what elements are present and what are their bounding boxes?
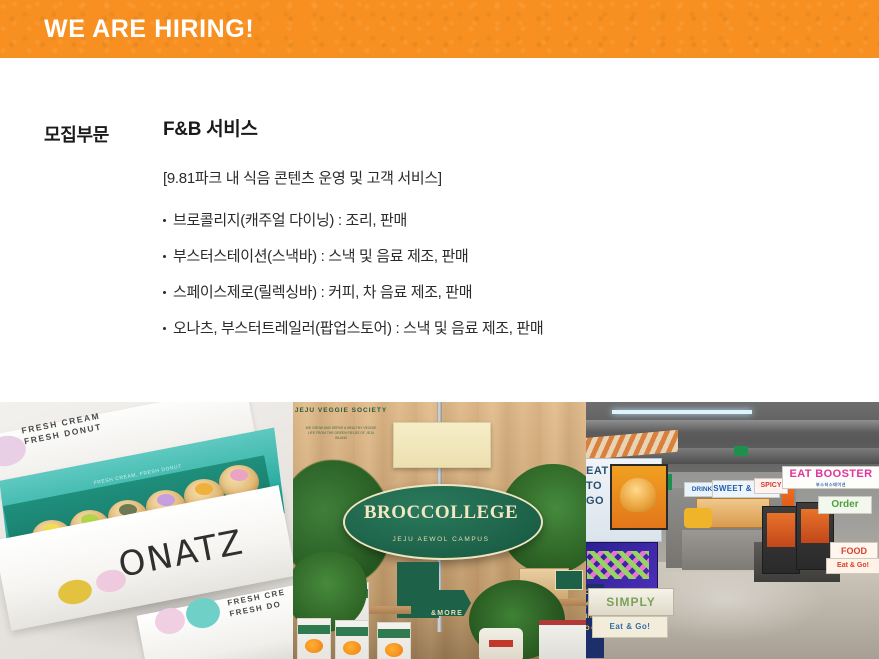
hiring-banner: WE ARE HIRING! [0,0,879,58]
produce-sack [479,628,523,659]
duty-text: 부스터스테이션(스낵바) : 스낵 및 음료 제조, 판매 [173,248,468,265]
list-item: 부스터스테이션(스낵바) : 스낵 및 음료 제조, 판매 [163,246,863,267]
order-sign: Order [818,496,872,514]
exit-sign-icon [734,446,748,456]
left-panel-text: EAT TO GO [586,464,612,509]
self-order-kiosk[interactable] [762,506,800,574]
eat-booster-subtitle: 부스터스테이션 [783,482,879,487]
eat-booster-title: EAT BOOSTER [789,468,872,480]
eat-and-go-sign: Eat & Go! [826,558,879,574]
recruitment-details: F&B 서비스 [9.81파크 내 식음 콘텐츠 운영 및 고객 서비스] 브로… [163,118,863,354]
duty-list: 브로콜리지(캐주얼 다이닝) : 조리, 판매 부스터스테이션(스낵바) : 스… [163,210,863,339]
product-box [539,620,586,659]
role-title: F&B 서비스 [163,118,863,142]
jeju-veggie-society-plaque [393,422,491,468]
role-subtitle: [9.81파크 내 식음 콘텐츠 운영 및 고객 서비스] [163,168,863,189]
ceiling-light [612,410,752,414]
broccollege-sign-title: BROCCOLLEGE [343,502,539,524]
stall-logo [684,508,712,528]
ceiling-duct [586,420,879,432]
list-item: 오나츠, 부스터트레일러(팝업스토어) : 스낵 및 음료 제조, 판매 [163,318,863,339]
duty-text: 오나츠, 부스터트레일러(팝업스토어) : 스낵 및 음료 제조, 판매 [173,320,543,337]
burger-poster [610,464,668,530]
canned-product [297,618,331,659]
eat-and-go-sign: Eat & Go! [592,616,668,638]
canned-product [335,620,369,659]
canned-product [377,622,411,659]
photo-broccollege-sign: JEJU VEGGIE SOCIETY WE GROW AND SERVE A … [293,402,586,659]
neon-blue-panel [586,542,658,590]
photo-food-court-interior: EAT TO GO TO GO! QUICK BITES TO GO! SIMP… [586,402,879,659]
plaque-title: JEJU VEGGIE SOCIETY [293,407,389,414]
field-label-recruitment-area: 모집부문 [44,121,109,147]
bullet-icon [163,291,166,294]
bullet-icon [163,327,166,330]
plaque-subtext: WE GROW AND SERVE A HEALTHY VEGGIE LIFE … [303,426,379,441]
photo-strip: FRESH CREAM FRESH DONUT FRESH CREAM, FRE… [0,402,879,659]
simply-sign: SIMPLY [588,588,674,616]
page-title: WE ARE HIRING! [44,14,254,44]
list-item: 스페이스제로(릴렉싱바) : 커피, 차 음료 제조, 판매 [163,282,863,303]
small-green-sign [555,570,583,590]
recruitment-content: 모집부문 F&B 서비스 [9.81파크 내 식음 콘텐츠 운영 및 고객 서비… [0,58,879,402]
broccollege-sign-subtitle: JEJU AEWOL CAMPUS [343,536,539,543]
bullet-icon [163,219,166,222]
list-item: 브로콜리지(캐주얼 다이닝) : 조리, 판매 [163,210,863,231]
more-label: &MORE [431,610,463,617]
duty-text: 스페이스제로(릴렉싱바) : 커피, 차 음료 제조, 판매 [173,284,472,301]
duty-text: 브로콜리지(캐주얼 다이닝) : 조리, 판매 [173,212,407,229]
eat-booster-sign: EAT BOOSTER 부스터스테이션 [782,466,879,489]
photo-onatz-donut-box: FRESH CREAM FRESH DONUT FRESH CREAM, FRE… [0,402,293,659]
bullet-icon [163,255,166,258]
